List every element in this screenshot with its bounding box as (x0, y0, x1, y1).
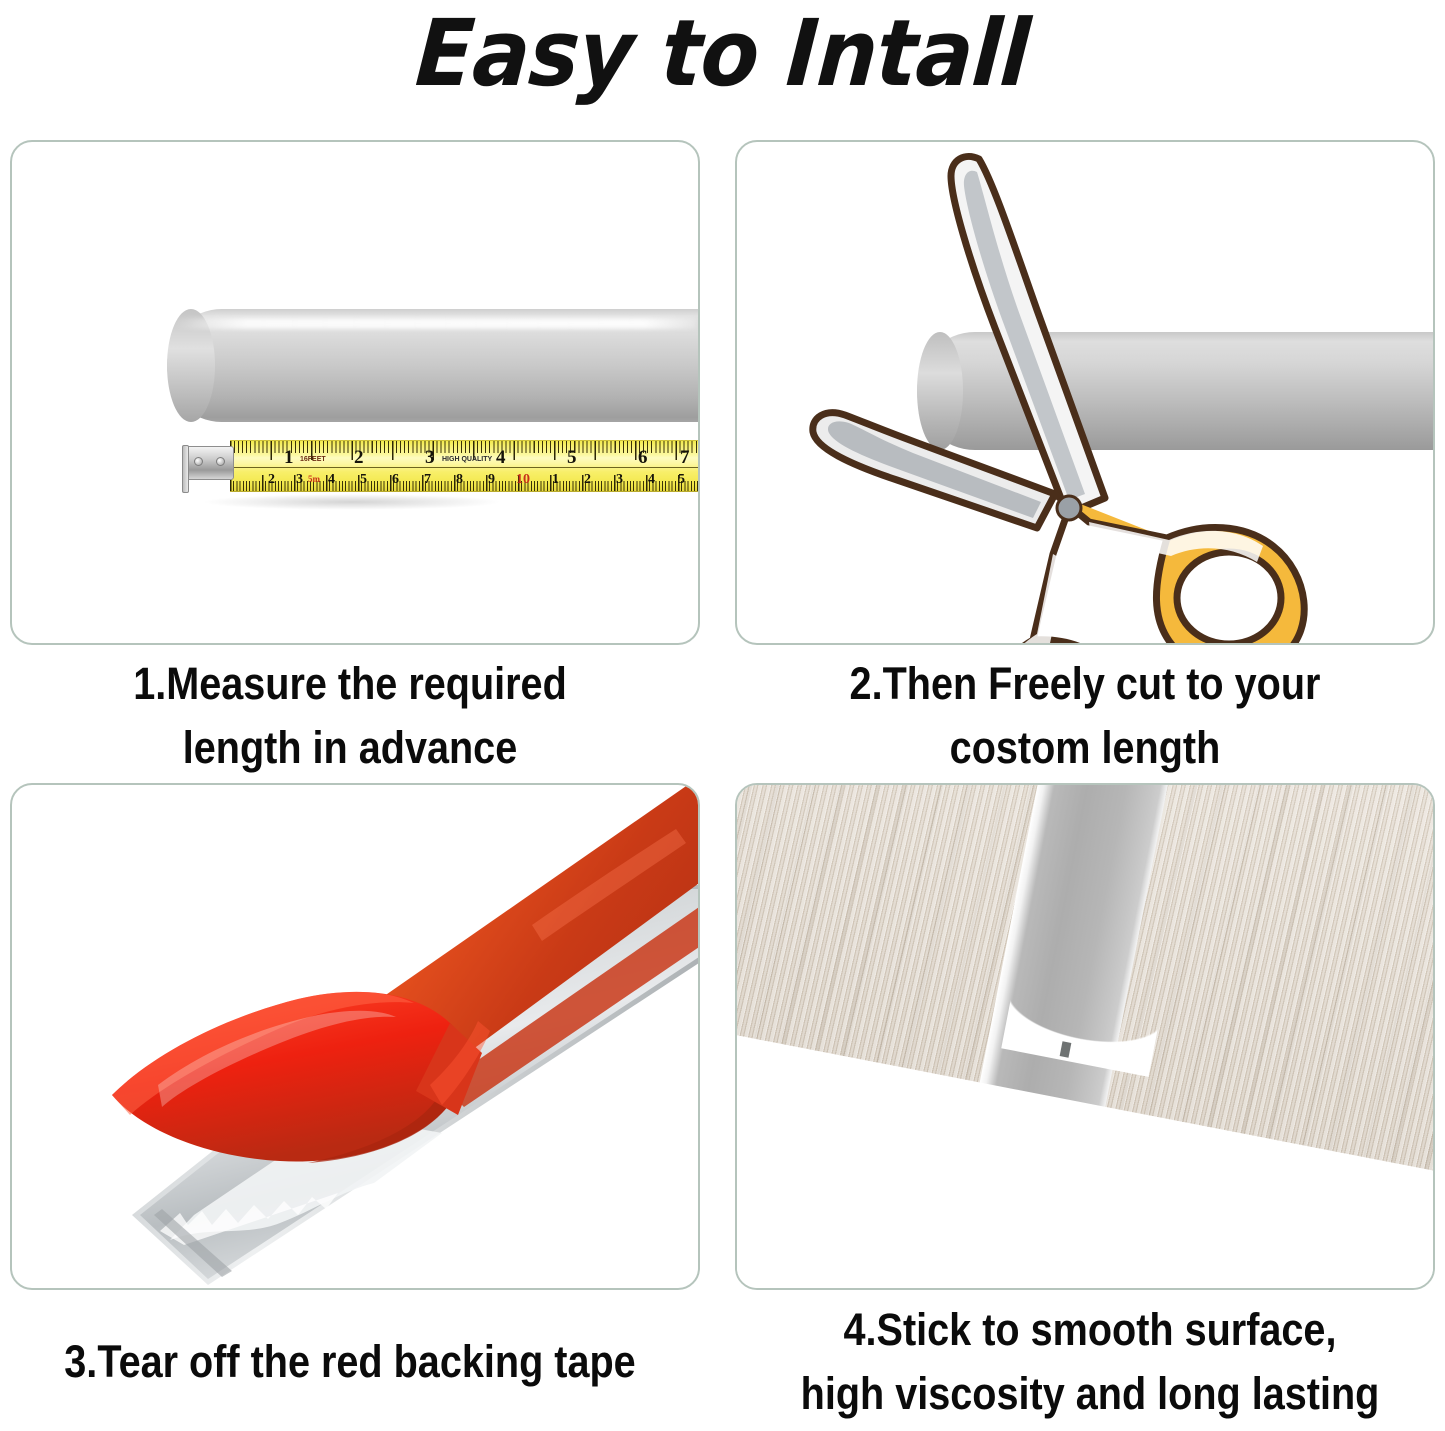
tape-inch-label: 1 (284, 448, 294, 467)
installed-strip-photo (737, 785, 1435, 1290)
tape-cm-label: 8 (456, 473, 463, 487)
tape-metric-text: 5m (308, 475, 320, 484)
tape-cm-label: 3 (296, 473, 303, 487)
tape-quality-text: HIGH QUALITY (442, 456, 492, 463)
tape-inch-label: 3 (425, 448, 435, 467)
caption-line: costom length (777, 716, 1393, 780)
tape-cm-label: 6 (392, 473, 399, 487)
caption-line: 4.Stick to smooth surface, (778, 1298, 1403, 1362)
pipe-shadow (202, 494, 502, 510)
backing-tape-peel-graphic (12, 785, 700, 1290)
caption-line: 3.Tear off the red backing tape (42, 1330, 658, 1394)
caption-step-2: 2.Then Freely cut to your costom length (777, 652, 1393, 780)
tape-brand-text: 16FEET (300, 456, 326, 463)
caption-line: high viscosity and long lasting (778, 1362, 1403, 1426)
caption-line: 2.Then Freely cut to your (777, 652, 1393, 716)
tape-cm-label: 10 (516, 473, 530, 487)
tape-inch-label: 6 (638, 448, 648, 467)
caption-line: 1.Measure the required (42, 652, 658, 716)
tape-cm-label: 7 (424, 473, 431, 487)
tape-cm-label: 5 (678, 473, 685, 487)
tape-cm-label: 4 (328, 473, 335, 487)
caption-step-3: 3.Tear off the red backing tape (42, 1330, 658, 1394)
tape-cm-label: 1 (552, 473, 559, 487)
scissors-icon (737, 142, 1435, 645)
hook-plate (186, 446, 234, 480)
tape-inch-label: 7 (680, 448, 690, 467)
tape-cm-label: 9 (488, 473, 495, 487)
tape-inch-label: 4 (496, 448, 506, 467)
tape-cm-label: 4 (648, 473, 655, 487)
tape-cm-label: 3 (616, 473, 623, 487)
hook-lip (182, 445, 189, 493)
tape-center-line (230, 467, 700, 468)
tape-inch-label: 2 (354, 448, 364, 467)
caption-line: length in advance (42, 716, 658, 780)
tape-cm-label: 2 (584, 473, 591, 487)
red-backing-tape (112, 785, 700, 1163)
hook-rivet (216, 457, 225, 466)
page-title: Easy to Intall (55, 8, 1391, 100)
peel-step-panel (10, 783, 700, 1290)
tape-cm-label: 5 (360, 473, 367, 487)
caption-step-1: 1.Measure the required length in advance (42, 652, 658, 780)
cut-step-panel (735, 140, 1435, 645)
hook-rivet (194, 457, 203, 466)
tape-cm-label: 2 (268, 473, 275, 487)
measure-step-panel: 1 2 3 4 5 6 7 16FEET HIGH QUALITY 2 3 5m… (10, 140, 700, 645)
caption-step-4: 4.Stick to smooth surface, high viscosit… (778, 1298, 1403, 1426)
tape-measure-graphic: 1 2 3 4 5 6 7 16FEET HIGH QUALITY 2 3 5m… (180, 440, 700, 492)
stick-step-panel (735, 783, 1435, 1290)
tape-measure-hook (180, 441, 238, 491)
pipe-molding-graphic (167, 309, 700, 422)
tape-inch-label: 5 (567, 448, 577, 467)
